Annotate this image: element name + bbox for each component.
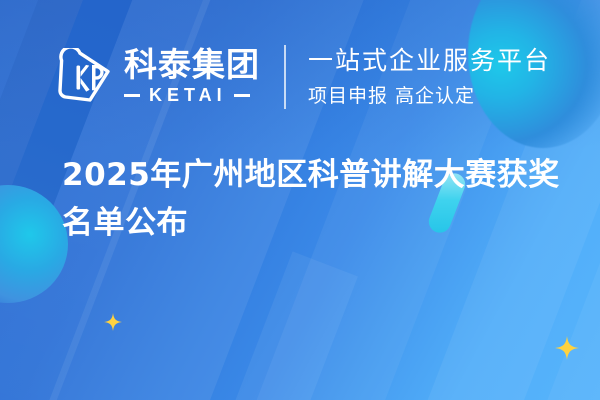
ketai-logo-icon: [56, 48, 114, 106]
page-title: 2025年广州地区科普讲解大赛获奖名单公布: [62, 152, 572, 247]
tagline-primary: 一站式企业服务平台: [308, 46, 551, 76]
logo-english-name: KETAI: [140, 85, 234, 106]
cyan-circle-blob-decoration: [0, 185, 68, 303]
logo-rule-left: [124, 94, 140, 97]
logo-wordmark: 科泰集团 KETAI: [124, 48, 260, 106]
background-band-6: [142, 251, 358, 400]
header-vertical-divider: [284, 45, 286, 109]
tagline-block: 一站式企业服务平台 项目申报 高企认定: [308, 46, 551, 108]
brand-header: 科泰集团 KETAI 一站式企业服务平台 项目申报 高企认定: [0, 38, 600, 116]
logo-english-row: KETAI: [124, 85, 260, 106]
sparkle-icon-large: [555, 336, 579, 360]
logo-rule-right: [234, 94, 250, 97]
article-cover-banner: 科泰集团 KETAI 一站式企业服务平台 项目申报 高企认定 2025年广州地区…: [0, 0, 600, 400]
logo-chinese-name: 科泰集团: [124, 48, 260, 82]
tagline-secondary: 项目申报 高企认定: [308, 81, 551, 108]
sparkle-icon-small: [104, 313, 122, 331]
